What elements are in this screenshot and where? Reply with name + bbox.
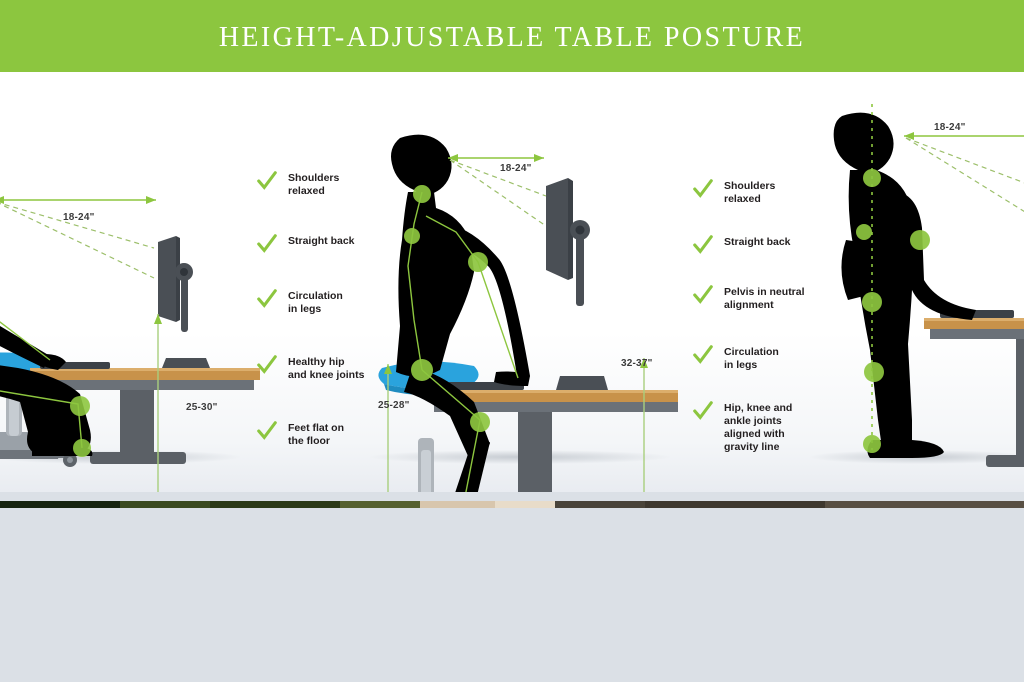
dim-label-desk-height-seated: 25-30" <box>186 402 218 413</box>
check-icon <box>256 170 278 192</box>
check-icon <box>692 400 714 422</box>
check-icon <box>256 420 278 442</box>
checklist-item[interactable]: Circulation in legs <box>692 346 779 372</box>
dim-eye-distance-perch-arrow <box>378 126 678 256</box>
seated-scene <box>0 132 240 472</box>
checklist-item-label: Circulation in legs <box>724 346 779 372</box>
photo-strip-segment <box>825 501 1024 508</box>
photo-strip-segment <box>210 501 340 508</box>
check-icon <box>256 288 278 310</box>
dim-desk-height-perch-arrow <box>626 352 666 492</box>
checklist-item[interactable]: Pelvis in neutral alignment <box>692 286 805 312</box>
check-icon <box>256 354 278 376</box>
checklist-item-label: Hip, knee and ankle joints aligned with … <box>724 402 792 454</box>
dim-label-desk-height-perch: 32-37" <box>621 358 653 369</box>
dim-label-eye-distance-seated: 18-24" <box>63 212 95 223</box>
infographic-canvas: 18-24" 25-30" Shoulders relaxed Straight… <box>0 72 1024 492</box>
checklist-item-label: Pelvis in neutral alignment <box>724 286 805 312</box>
photo-strip-segment <box>420 501 495 508</box>
standing-person-silhouette <box>834 113 976 458</box>
photo-strip-segment <box>495 501 555 508</box>
check-icon <box>256 233 278 255</box>
checklist-item[interactable]: Straight back <box>256 235 355 255</box>
below-infographic-area <box>0 492 1024 682</box>
standing-scene-illustration <box>820 100 1024 470</box>
height-adjustable-desk-icon <box>924 318 1024 467</box>
checklist-item-label: Feet flat on the floor <box>288 422 344 448</box>
checklist-item-label: Shoulders relaxed <box>724 180 775 206</box>
checklist-item[interactable]: Healthy hip and knee joints <box>256 356 364 382</box>
check-icon <box>692 234 714 256</box>
dim-eye-distance-seated-arrow <box>0 162 240 222</box>
photo-strip-segment <box>0 501 120 508</box>
dim-stool-height-arrow <box>370 358 410 492</box>
checklist-item[interactable]: Shoulders relaxed <box>692 180 775 206</box>
check-icon <box>692 178 714 200</box>
checklist-item[interactable]: Feet flat on the floor <box>256 422 344 448</box>
page-title: HEIGHT-ADJUSTABLE TABLE POSTURE <box>0 22 1024 54</box>
seated-posture-checklist: Shoulders relaxed Straight back Circulat… <box>256 172 386 472</box>
checklist-item[interactable]: Hip, knee and ankle joints aligned with … <box>692 402 792 454</box>
background-photo-strip <box>0 501 1024 508</box>
checklist-item[interactable]: Shoulders relaxed <box>256 172 339 198</box>
checklist-item-label: Straight back <box>288 235 355 248</box>
dim-label-stool-height: 25-28" <box>378 400 410 411</box>
standing-scene <box>820 100 1024 470</box>
dim-label-eye-distance-standing: 18-24" <box>934 122 966 133</box>
photo-strip-segment <box>120 501 210 508</box>
check-icon <box>692 344 714 366</box>
dim-label-eye-distance-perch: 18-24" <box>500 163 532 174</box>
title-banner: HEIGHT-ADJUSTABLE TABLE POSTURE <box>0 0 1024 72</box>
checklist-item-label: Healthy hip and knee joints <box>288 356 364 382</box>
checklist-item[interactable]: Straight back <box>692 236 791 256</box>
photo-strip-segment <box>340 501 420 508</box>
check-icon <box>692 284 714 306</box>
standing-posture-checklist: Shoulders relaxed Straight back Pelvis i… <box>692 180 832 480</box>
infographic-page: HEIGHT-ADJUSTABLE TABLE POSTURE <box>0 0 1024 682</box>
checklist-item-label: Straight back <box>724 236 791 249</box>
checklist-item[interactable]: Circulation in legs <box>256 290 343 316</box>
photo-strip-segment <box>555 501 645 508</box>
dim-desk-height-seated-arrow <box>138 306 218 492</box>
photo-strip-segment <box>645 501 825 508</box>
checklist-item-label: Circulation in legs <box>288 290 343 316</box>
checklist-item-label: Shoulders relaxed <box>288 172 339 198</box>
